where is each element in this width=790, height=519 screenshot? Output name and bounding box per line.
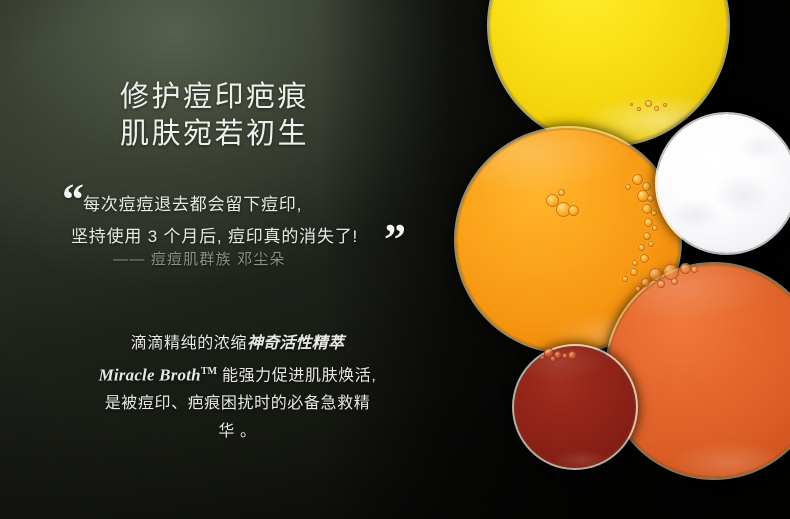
quote-close-icon: ” (384, 218, 406, 262)
body-copy-line-2-rest: 能强力促进肌肤焕活, (222, 367, 376, 384)
white-cream-dish (655, 112, 790, 255)
dark-red-dish-rim (512, 344, 638, 470)
testimonial-block: “ 每次痘痘退去都会留下痘印, 坚持使用 3 个月后, 痘印真的消失了! ” (60, 178, 460, 256)
body-copy-line-1: 滴滴精纯的浓缩神奇活性精萃 (60, 330, 415, 358)
body-copy-line-4: 华 。 (60, 418, 415, 446)
body-copy-line-3: 是被痘印、疤痕困扰时的必备急救精 (60, 390, 415, 418)
quote-open-icon: “ (62, 178, 84, 222)
white-dish-rim (655, 112, 790, 255)
trademark-mark: TM (201, 366, 217, 377)
body-copy-line-1-plain: 滴滴精纯的浓缩 (131, 335, 247, 352)
body-copy: 滴滴精纯的浓缩神奇活性精萃 Miracle BrothTM 能强力促进肌肤焕活,… (60, 330, 415, 446)
testimonial-line-2: 坚持使用 3 个月后, 痘印真的消失了! (71, 222, 358, 247)
brand-name: Miracle Broth (99, 365, 201, 384)
testimonial-line-1: 每次痘痘退去都会留下痘印, (83, 190, 302, 215)
body-copy-line-2: Miracle BrothTM 能强力促进肌肤焕活, (60, 358, 415, 390)
advertisement-banner: 修护痘印疤痕 肌肤宛若初生 “ 每次痘痘退去都会留下痘印, 坚持使用 3 个月后… (0, 0, 790, 519)
headline-line-1: 修护痘印疤痕 (120, 81, 309, 113)
body-copy-line-1-emphasis: 神奇活性精萃 (247, 335, 344, 352)
dark-red-dish (512, 344, 638, 470)
headline-line-2: 肌肤宛若初生 (120, 116, 309, 153)
testimonial-attribution: —— 痘痘肌群族 邓尘朵 (113, 248, 286, 269)
page-title: 修护痘印疤痕 肌肤宛若初生 (120, 79, 309, 153)
